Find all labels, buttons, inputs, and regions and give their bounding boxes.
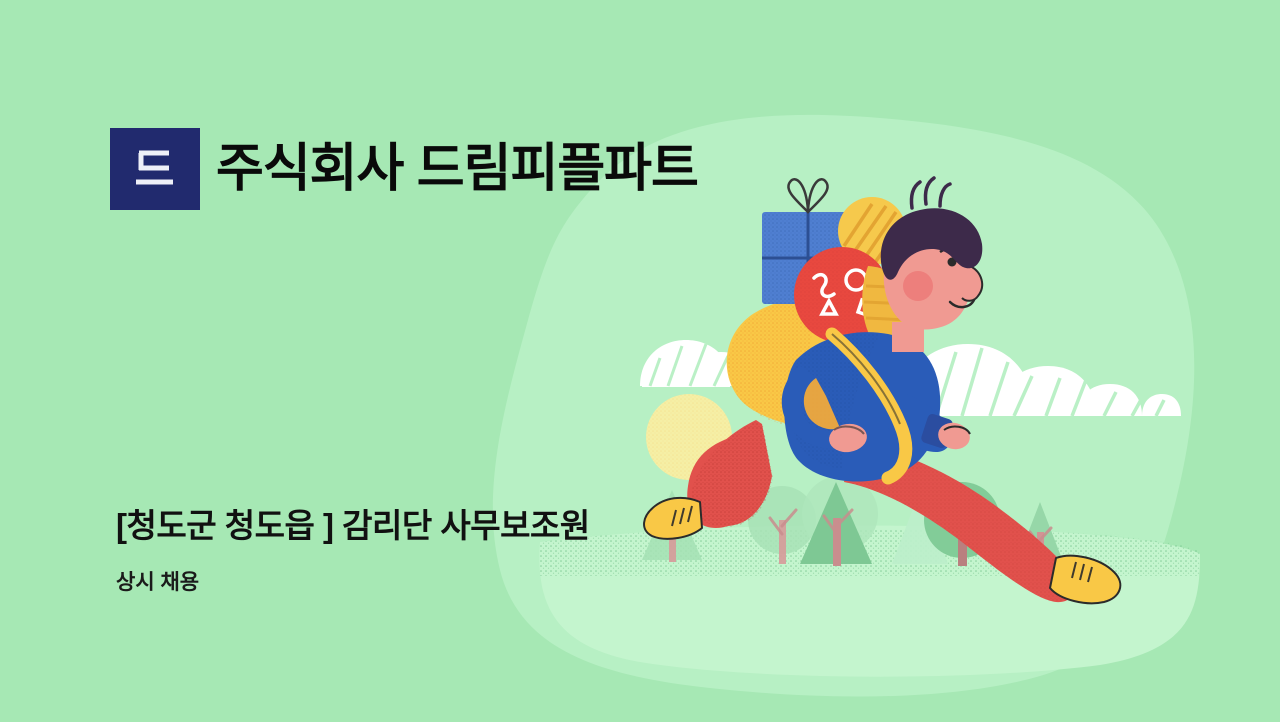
- job-info-block: [청도군 청도읍 ] 감리단 사무보조원 상시 채용: [116, 505, 590, 596]
- employment-type-label: 상시 채용: [116, 569, 590, 596]
- background-blob-layer: [0, 0, 1280, 722]
- runner-figure: [644, 178, 1120, 603]
- sun-icon: [646, 394, 732, 480]
- gift-items-icon: [762, 179, 912, 343]
- job-title: [청도군 청도읍 ] 감리단 사무보조원: [116, 505, 590, 548]
- bush-left-icon: [640, 340, 773, 387]
- background-blob-icon: [0, 0, 1280, 722]
- tree-row: [642, 476, 1064, 566]
- ground-band: [530, 525, 1210, 676]
- job-posting-card: 주식회사 드림피플파트 [청도군 청도읍 ] 감리단 사무보조원 상시 채용: [0, 0, 1280, 722]
- company-header: 주식회사 드림피플파트: [110, 128, 698, 210]
- korean-letter-digeut-logo-icon: [129, 143, 181, 195]
- company-name: 주식회사 드림피플파트: [216, 143, 698, 195]
- bush-right-icon: [900, 344, 1181, 416]
- company-logo-badge: [110, 128, 200, 210]
